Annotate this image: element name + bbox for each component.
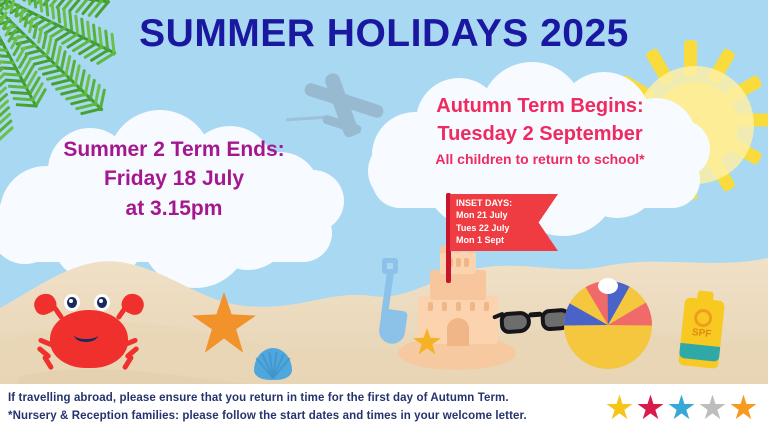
right-line-3: All children to return to school* [390, 148, 690, 170]
banner-line-2: *Nursery & Reception families: please fo… [8, 410, 527, 422]
inset-day-1: Mon 21 July [456, 209, 512, 221]
star-rating-decoration [606, 394, 758, 422]
summer-holidays-poster: INSET DAYS: Mon 21 July Tues 22 July Mon… [0, 0, 768, 432]
beach-ball-icon [564, 281, 652, 369]
starfish-icon [192, 292, 256, 354]
sunscreen-bottle-icon: SPF [678, 289, 726, 369]
page-title: SUMMER HOLIDAYS 2025 [0, 12, 768, 56]
left-line-2: Friday 18 July [24, 164, 324, 194]
star-5 [730, 395, 757, 422]
left-line-1: Summer 2 Term Ends: [24, 136, 324, 164]
star-1 [606, 395, 633, 422]
starfish-icon [413, 328, 441, 355]
summer-term-ends-text: Summer 2 Term Ends: Friday 18 July at 3.… [24, 136, 324, 224]
left-line-3: at 3.15pm [24, 194, 324, 224]
right-line-2: Tuesday 2 September [390, 120, 690, 148]
sunglasses-icon [499, 306, 573, 341]
star-2 [637, 395, 664, 422]
footer-banner: If travelling abroad, please ensure that… [0, 384, 768, 432]
inset-days-flag: INSET DAYS: Mon 21 July Tues 22 July Mon… [446, 193, 566, 283]
star-3 [668, 395, 695, 422]
star-4 [699, 395, 726, 422]
banner-line-1: If travelling abroad, please ensure that… [8, 392, 509, 404]
right-line-1: Autumn Term Begins: [390, 92, 690, 120]
inset-day-2: Tues 22 July [456, 222, 512, 234]
autumn-term-begins-text: Autumn Term Begins: Tuesday 2 September … [390, 92, 690, 170]
inset-heading: INSET DAYS: [456, 197, 512, 209]
crab-icon [30, 288, 150, 376]
seashell-icon [254, 348, 292, 380]
inset-day-3: Mon 1 Sept [456, 234, 512, 246]
